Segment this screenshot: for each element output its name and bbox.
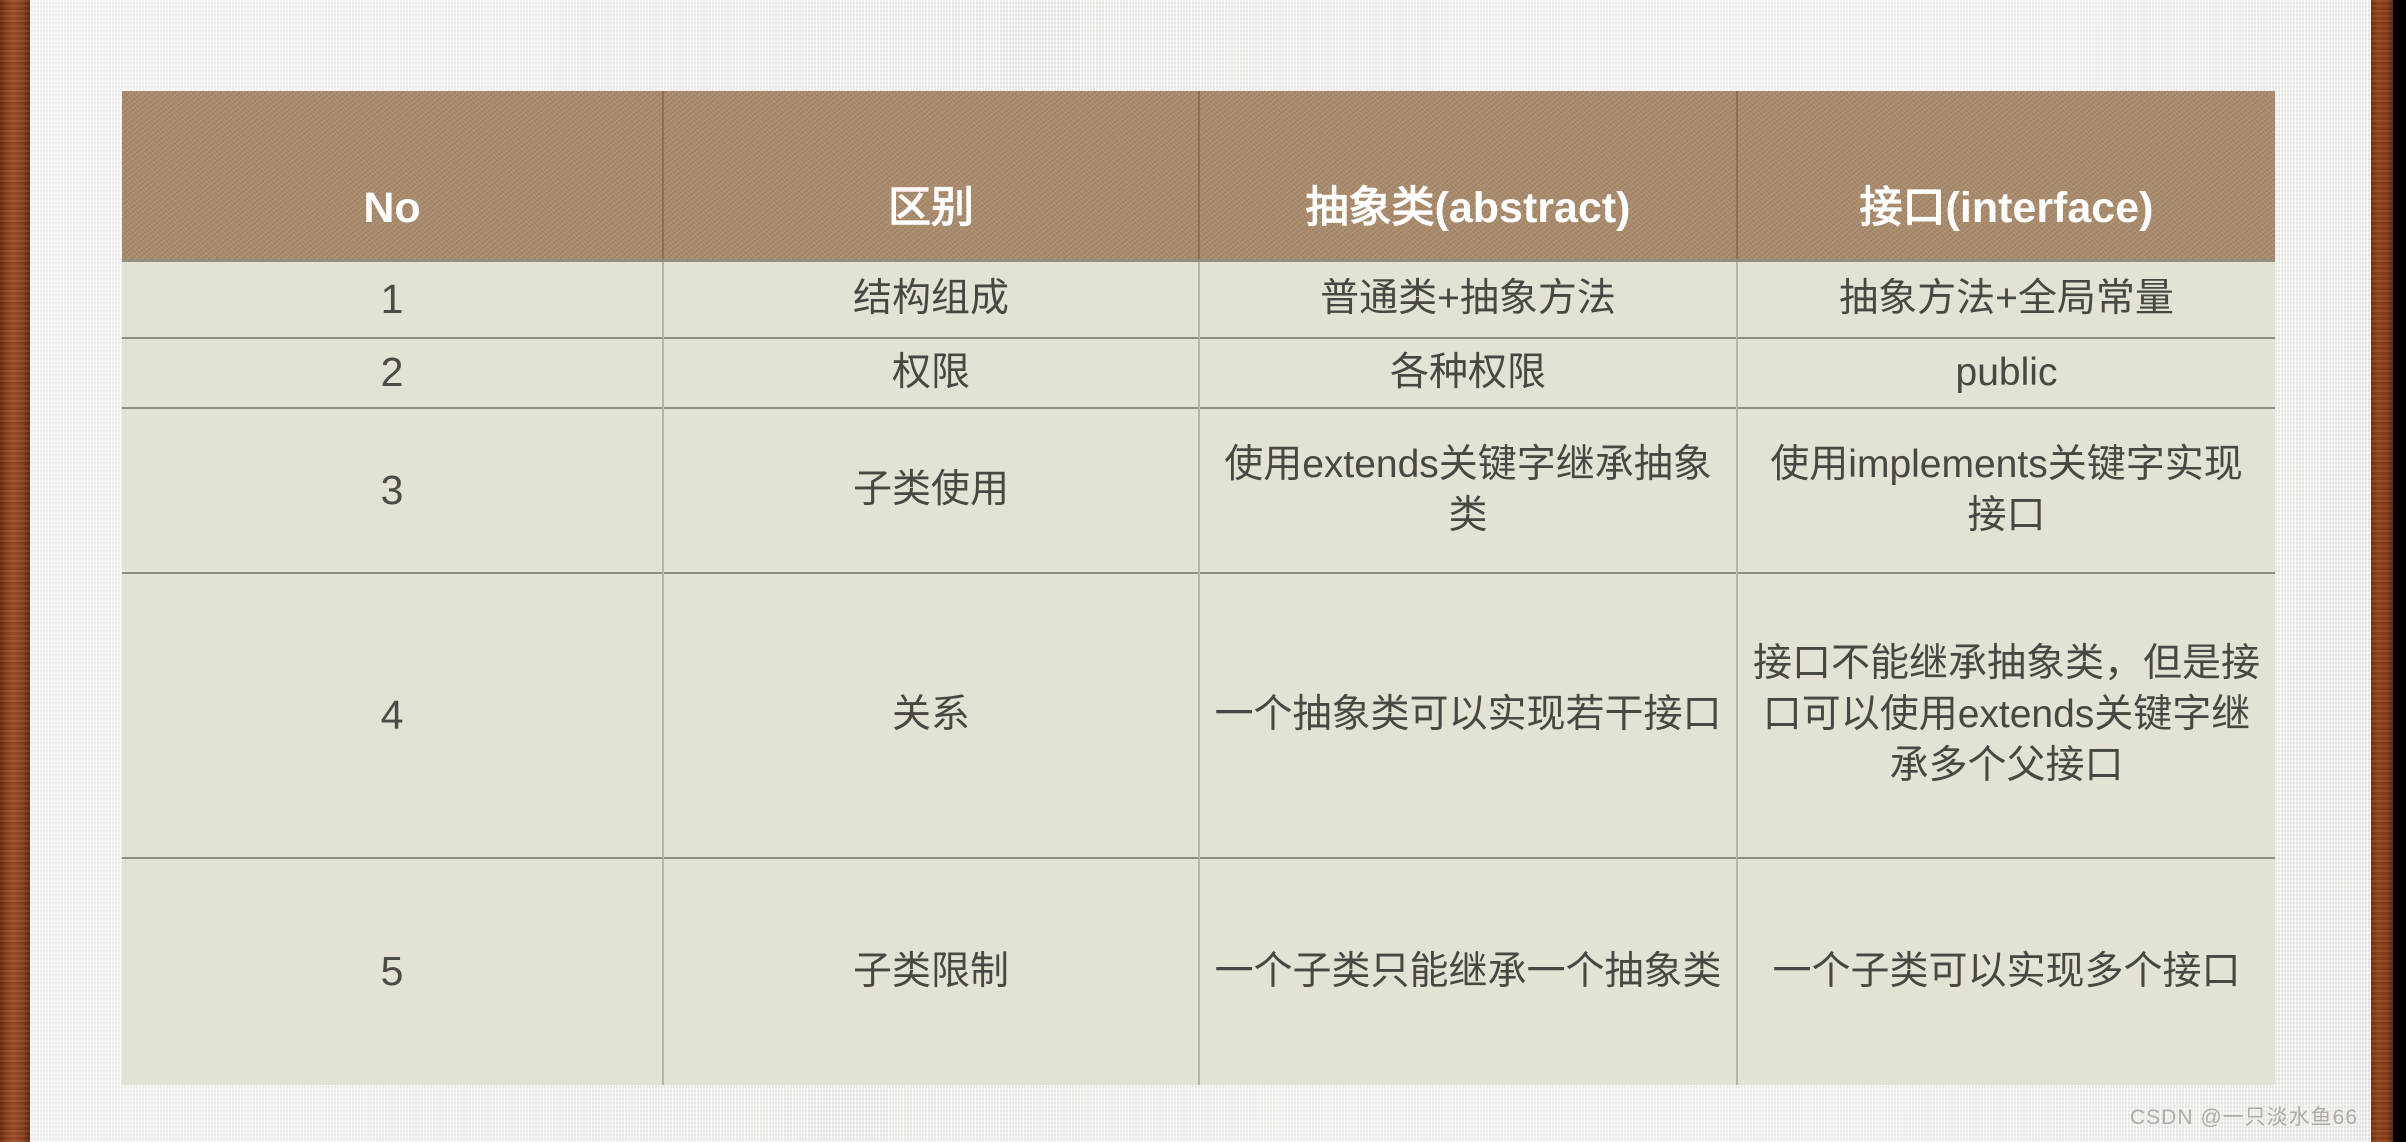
cell-no: 4 <box>122 573 663 858</box>
column-header-difference: 区别 <box>663 91 1199 260</box>
table-row: 1 结构组成 普通类+抽象方法 抽象方法+全局常量 <box>122 260 2275 338</box>
column-header-abstract: 抽象类(abstract) <box>1199 91 1737 260</box>
table-row: 4 关系 一个抽象类可以实现若干接口 接口不能继承抽象类，但是接口可以使用ext… <box>122 573 2275 858</box>
cell-interface: 使用implements关键字实现接口 <box>1737 408 2275 573</box>
csdn-watermark: CSDN @一只淡水鱼66 <box>2130 1101 2358 1131</box>
cell-abstract: 一个抽象类可以实现若干接口 <box>1199 573 1737 858</box>
table-header-row: No 区别 抽象类(abstract) 接口(interface) <box>122 91 2275 260</box>
cell-no: 2 <box>122 338 663 408</box>
table-row: 3 子类使用 使用extends关键字继承抽象类 使用implements关键字… <box>122 408 2275 573</box>
cell-interface: 一个子类可以实现多个接口 <box>1737 858 2275 1085</box>
cell-difference: 子类使用 <box>663 408 1199 573</box>
column-header-no: No <box>122 91 663 260</box>
table-row: 5 子类限制 一个子类只能继承一个抽象类 一个子类可以实现多个接口 <box>122 858 2275 1085</box>
cell-no: 3 <box>122 408 663 573</box>
cell-difference: 权限 <box>663 338 1199 408</box>
cell-abstract: 一个子类只能继承一个抽象类 <box>1199 858 1737 1085</box>
table-body: 1 结构组成 普通类+抽象方法 抽象方法+全局常量 2 权限 各种权限 publ… <box>122 260 2275 1085</box>
cell-no: 5 <box>122 858 663 1085</box>
column-header-interface: 接口(interface) <box>1737 91 2275 260</box>
right-wood-border <box>2371 0 2393 1142</box>
cell-abstract: 普通类+抽象方法 <box>1199 260 1737 338</box>
comparison-table: No 区别 抽象类(abstract) 接口(interface) 1 结构组成… <box>122 91 2275 1085</box>
slide-canvas: No 区别 抽象类(abstract) 接口(interface) 1 结构组成… <box>0 0 2406 1142</box>
cell-interface: 抽象方法+全局常量 <box>1737 260 2275 338</box>
left-wood-border <box>0 0 31 1142</box>
right-black-gutter <box>2393 0 2406 1142</box>
table-header: No 区别 抽象类(abstract) 接口(interface) <box>122 91 2275 260</box>
cell-interface: public <box>1737 338 2275 408</box>
cell-difference: 子类限制 <box>663 858 1199 1085</box>
cell-interface: 接口不能继承抽象类，但是接口可以使用extends关键字继承多个父接口 <box>1737 573 2275 858</box>
cell-difference: 关系 <box>663 573 1199 858</box>
cell-no: 1 <box>122 260 663 338</box>
cell-abstract: 使用extends关键字继承抽象类 <box>1199 408 1737 573</box>
cell-difference: 结构组成 <box>663 260 1199 338</box>
table-row: 2 权限 各种权限 public <box>122 338 2275 408</box>
cell-abstract: 各种权限 <box>1199 338 1737 408</box>
